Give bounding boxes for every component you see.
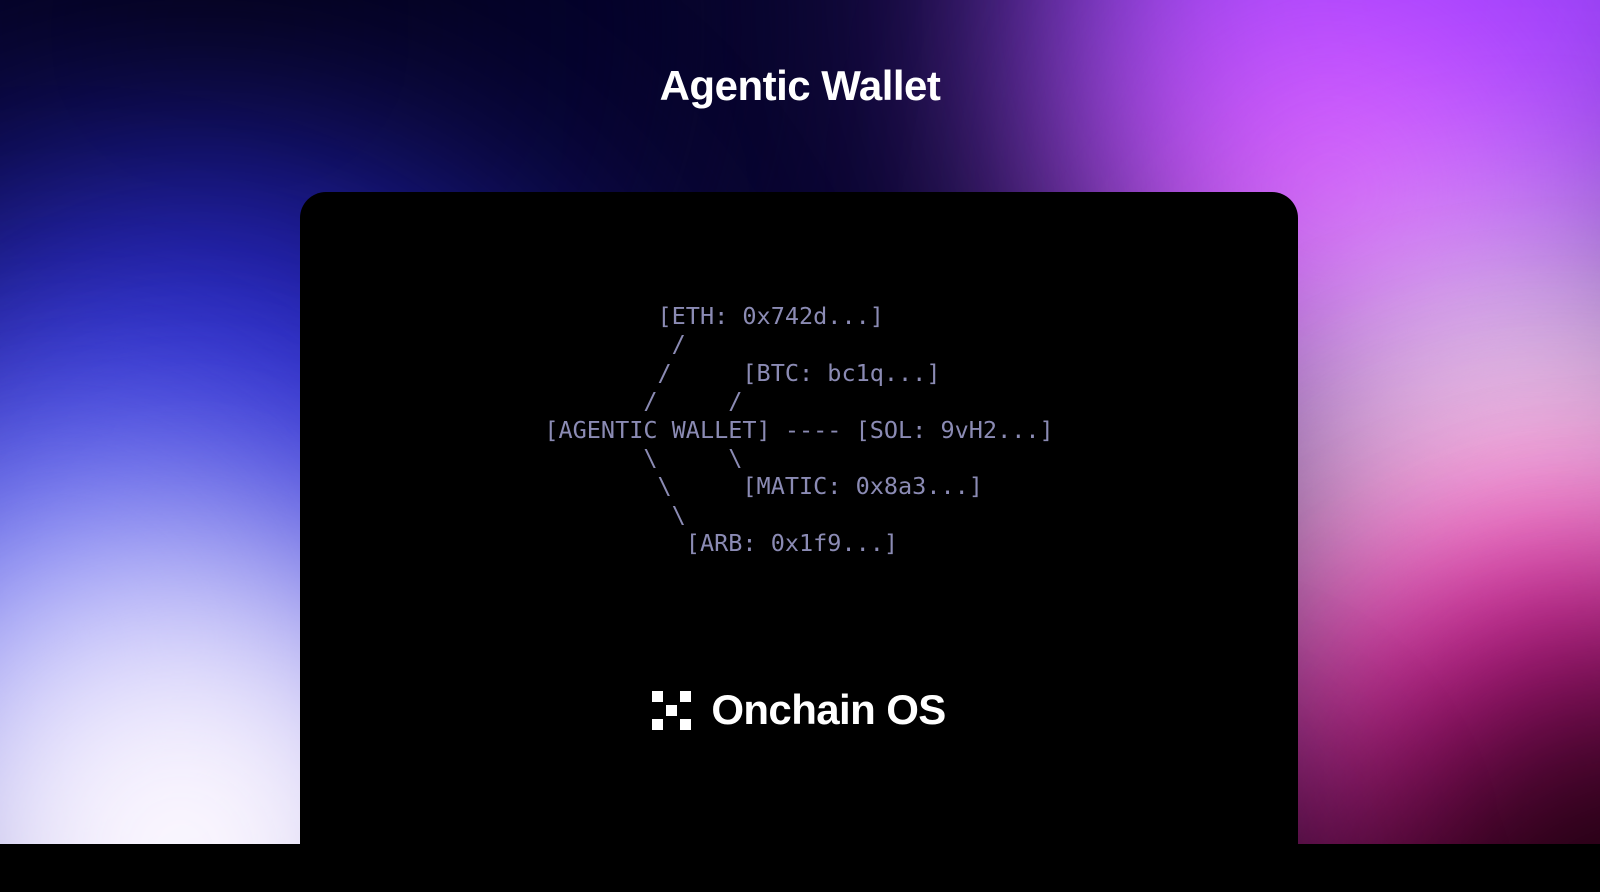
- brand-lockup: Onchain OS: [300, 689, 1298, 731]
- terminal-card: [ETH: 0x742d...] / / [BTC: bc1q...] / / …: [300, 192, 1298, 892]
- onchain-os-logo-icon: [652, 691, 691, 730]
- page-title: Agentic Wallet: [0, 62, 1600, 110]
- brand-name: Onchain OS: [711, 689, 945, 731]
- ascii-diagram-text: [ETH: 0x742d...] / / [BTC: bc1q...] / / …: [544, 302, 1053, 558]
- ascii-diagram: [ETH: 0x742d...] / / [BTC: bc1q...] / / …: [300, 302, 1298, 558]
